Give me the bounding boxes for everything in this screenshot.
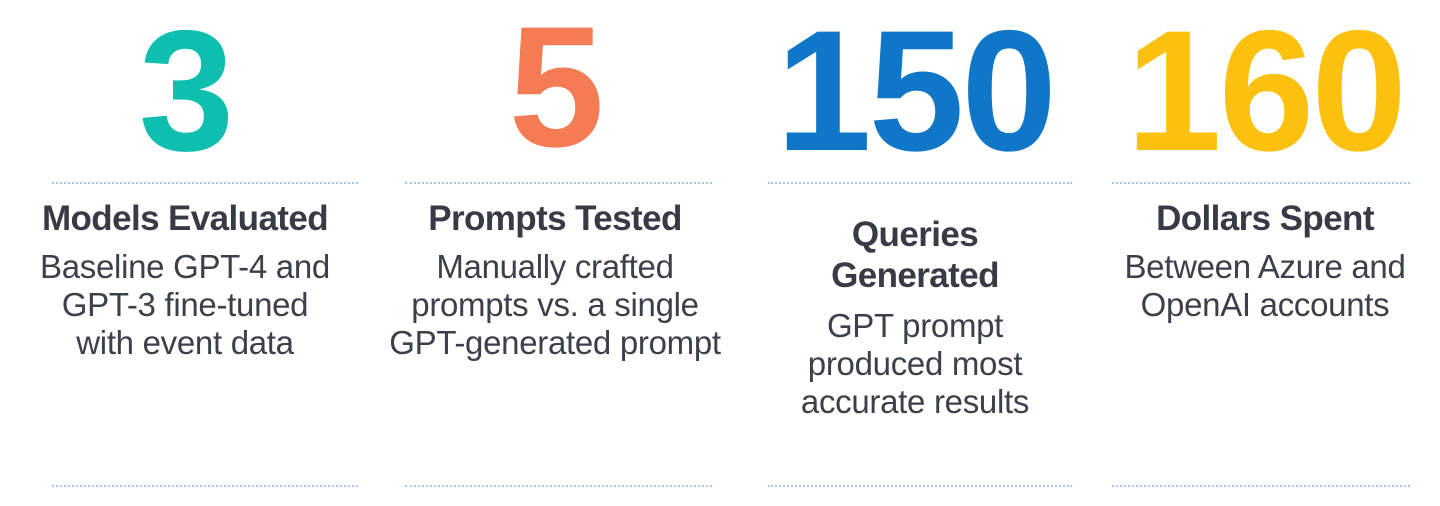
divider-bottom-1 [52,485,358,487]
stats-board: 3 Models Evaluated Baseline GPT-4 and GP… [0,0,1440,506]
stat-body-4: Dollars Spent Between Azure and OpenAI a… [1090,198,1440,324]
divider-bottom-4 [1112,485,1410,487]
stat-description-2: Manually crafted prompts vs. a single GP… [388,248,722,362]
divider-top-1 [52,182,358,184]
stat-number-1: 3 [139,12,232,170]
stat-number-2: 5 [509,8,602,166]
stat-description-1: Baseline GPT-4 and GPT-3 fine-tuned with… [38,248,332,362]
stat-title-2: Prompts Tested [388,198,722,239]
stat-body-2: Prompts Tested Manually crafted prompts … [370,198,740,362]
divider-bottom-2 [405,485,712,487]
stat-body-1: Models Evaluated Baseline GPT-4 and GPT-… [0,198,370,362]
divider-bottom-3 [768,485,1072,487]
stat-number-4: 160 [1126,12,1404,170]
stat-title-4: Dollars Spent [1118,198,1412,239]
stat-title-3: Queries Generated [782,214,1048,296]
stat-card-queries-generated: 150 Queries Generated GPT prompt produce… [740,0,1090,506]
stat-description-3: GPT prompt produced most accurate result… [782,307,1048,421]
divider-top-4 [1112,182,1410,184]
stat-number-3: 150 [776,12,1054,170]
divider-top-2 [405,182,712,184]
stat-body-3: Queries Generated GPT prompt produced mo… [740,214,1090,421]
stat-description-4: Between Azure and OpenAI accounts [1118,248,1412,324]
stat-card-dollars-spent: 160 Dollars Spent Between Azure and Open… [1090,0,1440,506]
stat-card-prompts-tested: 5 Prompts Tested Manually crafted prompt… [370,0,740,506]
divider-top-3 [768,182,1072,184]
stat-card-models-evaluated: 3 Models Evaluated Baseline GPT-4 and GP… [0,0,370,506]
stat-title-1: Models Evaluated [38,198,332,239]
